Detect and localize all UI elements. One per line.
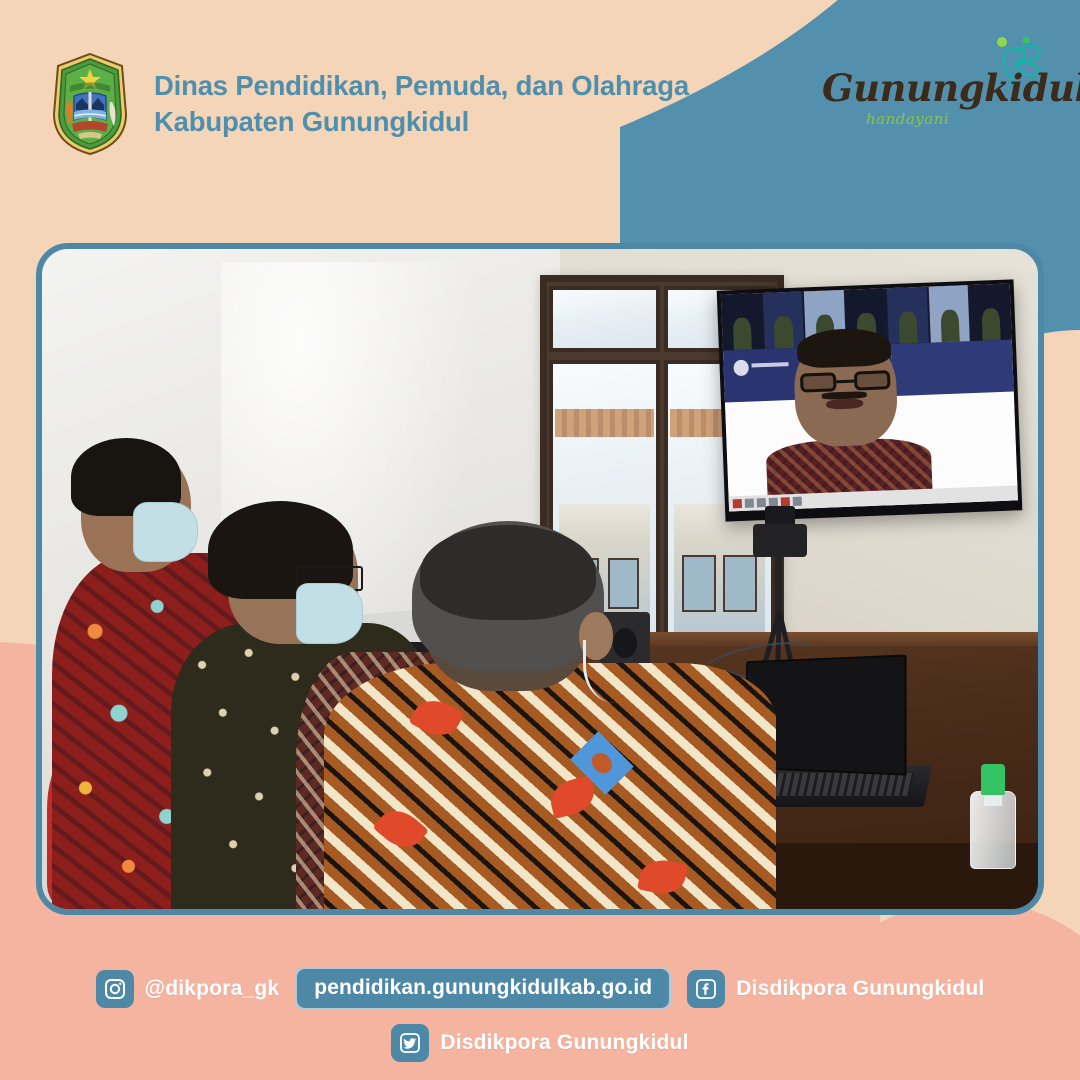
- video-call-thumbnail-person: [982, 308, 1001, 341]
- gunungkidul-regency-crest-icon: [48, 52, 132, 156]
- video-call-thumbnail: [970, 284, 1012, 342]
- gunungkidul-brand-logo: Gunungkidul handayani: [814, 38, 1044, 148]
- attendee-foreground: [341, 533, 759, 909]
- footer-row-secondary: Disdikpora Gunungkidul: [391, 1024, 688, 1062]
- video-call-thumbnail-person: [733, 318, 752, 351]
- video-call-active-speaker: [783, 331, 910, 492]
- video-call-thumbnail: [929, 285, 971, 343]
- facebook-label: Disdikpora Gunungkidul: [736, 977, 984, 1001]
- twitter-label: Disdikpora Gunungkidul: [440, 1031, 688, 1055]
- instagram-icon[interactable]: [96, 970, 134, 1008]
- video-call-speaker-glasses: [801, 370, 891, 393]
- attendee-foreground-hair-top: [420, 525, 596, 620]
- glasses-lens-right: [854, 370, 891, 390]
- brand-wordmark: Gunungkidul: [822, 66, 1080, 110]
- taskbar-icon: [793, 497, 802, 506]
- glasses-lens-left: [801, 372, 838, 392]
- social-media-poster: Dinas Pendidikan, Pemuda, dan Olahraga K…: [0, 0, 1080, 1080]
- window-view-roof: [555, 409, 653, 437]
- brand-tagline: handayani: [866, 110, 949, 128]
- window-pane-top-left: [549, 286, 659, 352]
- meeting-photo: [42, 249, 1038, 909]
- twitter-icon[interactable]: [391, 1024, 429, 1062]
- sanitizer-pump: [981, 764, 1005, 796]
- twitter-handle[interactable]: Disdikpora Gunungkidul: [391, 1024, 688, 1062]
- video-call-speaker-hair: [797, 327, 892, 369]
- video-call-thumbnail-person: [940, 310, 959, 343]
- glasses-bridge: [837, 380, 855, 384]
- header: Dinas Pendidikan, Pemuda, dan Olahraga K…: [48, 52, 689, 156]
- video-call-speaker-head: [793, 332, 899, 448]
- facebook-icon[interactable]: [687, 970, 725, 1008]
- instagram-handle[interactable]: @dikpora_gk: [96, 970, 280, 1008]
- website-link[interactable]: pendidikan.gunungkidulkab.go.id: [295, 967, 671, 1010]
- page-title: Dinas Pendidikan, Pemuda, dan Olahraga K…: [154, 68, 689, 141]
- footer: @dikpora_gk pendidikan.gunungkidulkab.go…: [0, 967, 1080, 1062]
- video-call-thumbnail: [721, 293, 763, 351]
- footer-row-primary: @dikpora_gk pendidikan.gunungkidulkab.go…: [96, 967, 985, 1010]
- taskbar-icon: [781, 497, 790, 506]
- photo-frame: [36, 243, 1044, 915]
- hand-sanitizer-bottle: [970, 764, 1016, 870]
- facebook-handle[interactable]: Disdikpora Gunungkidul: [687, 970, 984, 1008]
- attendee-foreground-batik-pattern: [324, 663, 776, 909]
- video-call-speaker-mouth: [826, 398, 863, 410]
- video-call-slide-logo: [734, 360, 750, 376]
- attendee-foreground-shirt: [324, 663, 776, 909]
- television: [717, 280, 1022, 522]
- video-call-screen: [721, 284, 1018, 512]
- instagram-label: @dikpora_gk: [145, 977, 280, 1001]
